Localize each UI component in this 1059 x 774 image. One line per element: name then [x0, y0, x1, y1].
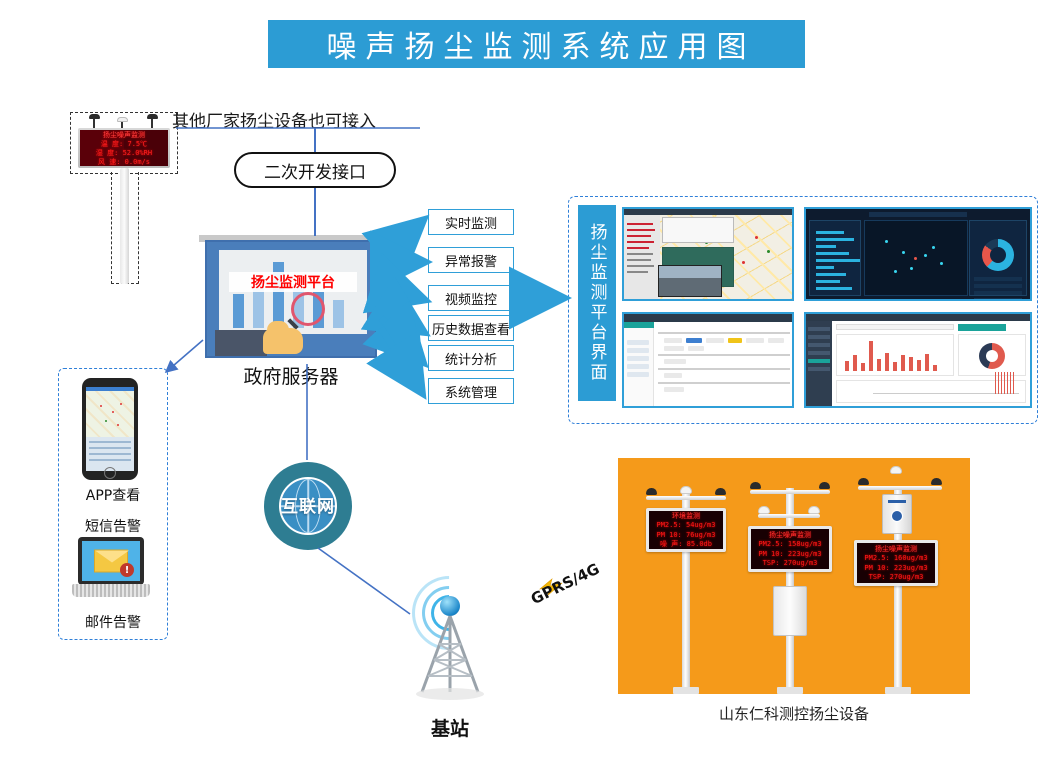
menu-item-system-management[interactable]: 系统管理 [428, 378, 514, 404]
menu-item-video-monitor[interactable]: 视频监控 [428, 285, 514, 311]
led-board-1-line-1: PM2.5: 54ug/m3 [656, 521, 715, 530]
server-screen: 扬尘监测平台 [219, 250, 367, 334]
led-board-1-line-3: 噪 声: 85.0db [660, 540, 712, 549]
devices-caption: 山东仁科测控扬尘设备 [618, 703, 970, 724]
led-board-3-line-3: TSP: 270ug/m3 [869, 573, 924, 582]
device-base-1 [673, 687, 699, 694]
wind-vane-icon [146, 114, 159, 128]
screenshot-statistics-report[interactable] [804, 312, 1032, 408]
api-box-label: 二次开发接口 [264, 158, 366, 183]
menu-item-label: 统计分析 [445, 349, 497, 368]
menu-item-realtime-monitor[interactable]: 实时监测 [428, 209, 514, 235]
vendor-led-line-2: 湿 度: 52.0%RH [96, 149, 152, 157]
secondary-development-api-box[interactable]: 二次开发接口 [234, 152, 396, 188]
screenshot-map-view[interactable] [622, 207, 794, 301]
control-cabinet [773, 586, 807, 636]
vendor-device-pole [120, 168, 129, 284]
menu-item-abnormal-alarm[interactable]: 异常报警 [428, 247, 514, 273]
dust-sensor-icon [808, 506, 820, 514]
magnifier-icon [291, 292, 325, 326]
menu-item-statistics[interactable]: 统计分析 [428, 345, 514, 371]
base-station-illustration [398, 570, 502, 700]
phone-screen [86, 387, 134, 471]
led-board-1: 环境监测 PM2.5: 54ug/m3 PM 10: 76ug/m3 噪 声: … [646, 508, 726, 552]
vendor-led-line-3: 风 速: 0.0m/s [98, 158, 150, 166]
screenshot-dark-dashboard[interactable] [804, 207, 1032, 301]
dust-monitoring-devices-photo: 环境监测 PM2.5: 54ug/m3 PM 10: 76ug/m3 噪 声: … [618, 458, 970, 694]
menu-item-label: 实时监测 [445, 213, 497, 232]
anemometer-icon [646, 488, 657, 495]
device-crossarm-3 [858, 486, 942, 490]
keyboard-icon [215, 330, 267, 356]
rain-gauge-icon [680, 486, 692, 494]
internet-label: 互联网 [264, 492, 352, 517]
led-board-3-line-2: PM 10: 223ug/m3 [864, 564, 927, 573]
led-board-3-line-1: PM2.5: 160ug/m3 [864, 554, 927, 563]
led-board-2-line-3: TSP: 270ug/m3 [763, 559, 818, 568]
laptop-illustration: ! [72, 537, 150, 603]
device-crossarm-2 [750, 490, 830, 494]
wind-vane-icon [931, 478, 942, 485]
led-board-2-title: 扬尘噪声监测 [769, 531, 811, 540]
app-view-label: APP查看 [58, 485, 168, 505]
device-base-3 [885, 687, 911, 694]
server-caption: 政府服务器 [205, 362, 377, 389]
phone-home-button [104, 467, 116, 479]
platform-vertical-label: 扬尘监测平台界面 [578, 205, 616, 401]
anemometer-icon [88, 114, 101, 128]
led-board-1-line-2: PM 10: 76ug/m3 [656, 531, 715, 540]
device-base-2 [777, 687, 803, 694]
page-title-bar: 噪声扬尘监测系统应用图 [268, 20, 805, 68]
enclosure-stripe [888, 500, 906, 503]
wind-vane-icon [819, 482, 830, 489]
led-board-2-line-2: PM 10: 223ug/m3 [758, 550, 821, 559]
page-title: 噪声扬尘监测系统应用图 [318, 22, 756, 66]
anemometer-icon [858, 478, 869, 485]
vendor-note-text: 其他厂家扬尘设备也可接入 [172, 107, 376, 132]
led-board-2-line-1: PM2.5: 158ug/m3 [758, 540, 821, 549]
sms-alert-label: 短信告警 [58, 516, 168, 536]
wind-vane-icon [715, 488, 726, 495]
alert-badge: ! [120, 563, 134, 577]
menu-item-label: 异常报警 [445, 251, 497, 270]
led-board-3: 扬尘噪声监测 PM2.5: 160ug/m3 PM 10: 223ug/m3 T… [854, 540, 938, 586]
screenshot-device-list[interactable] [622, 312, 794, 408]
menu-item-label: 历史数据查看 [432, 319, 510, 338]
led-board-1-title: 环境监测 [672, 512, 700, 521]
hand-icon [263, 328, 303, 354]
anemometer-icon [750, 482, 761, 489]
led-board-2: 扬尘噪声监测 PM2.5: 158ug/m3 PM 10: 223ug/m3 T… [748, 526, 832, 572]
diagram-canvas: 噪声扬尘监测系统应用图 扬尘噪声监测 温 度: 7.5℃ 湿 度: 52.0%R… [0, 0, 1059, 774]
tower-structure [398, 570, 502, 700]
vendor-led-display: 扬尘噪声监测 温 度: 7.5℃ 湿 度: 52.0%RH 风 速: 0.0m/… [78, 128, 170, 168]
email-alert-label: 邮件告警 [58, 612, 168, 632]
vendor-led-title: 扬尘噪声监测 [103, 131, 145, 139]
vendor-led-line-1: 温 度: 7.5℃ [101, 140, 147, 148]
noise-sensor-icon [758, 506, 770, 514]
base-station-label: 基站 [398, 714, 502, 741]
rain-gauge-icon [890, 466, 902, 474]
device-crossarm-2b [758, 514, 820, 518]
led-board-3-title: 扬尘噪声监测 [875, 545, 917, 554]
device-crossarm-1 [646, 496, 726, 500]
menu-item-history-data[interactable]: 历史数据查看 [428, 315, 514, 341]
enclosure-logo [891, 510, 903, 522]
government-server-illustration: 扬尘监测平台 [205, 240, 377, 358]
smartphone-illustration [82, 378, 138, 480]
menu-item-label: 视频监控 [445, 289, 497, 308]
laptop-keyboard [72, 584, 150, 597]
menu-item-label: 系统管理 [445, 382, 497, 401]
server-platform-label: 扬尘监测平台 [229, 272, 357, 292]
